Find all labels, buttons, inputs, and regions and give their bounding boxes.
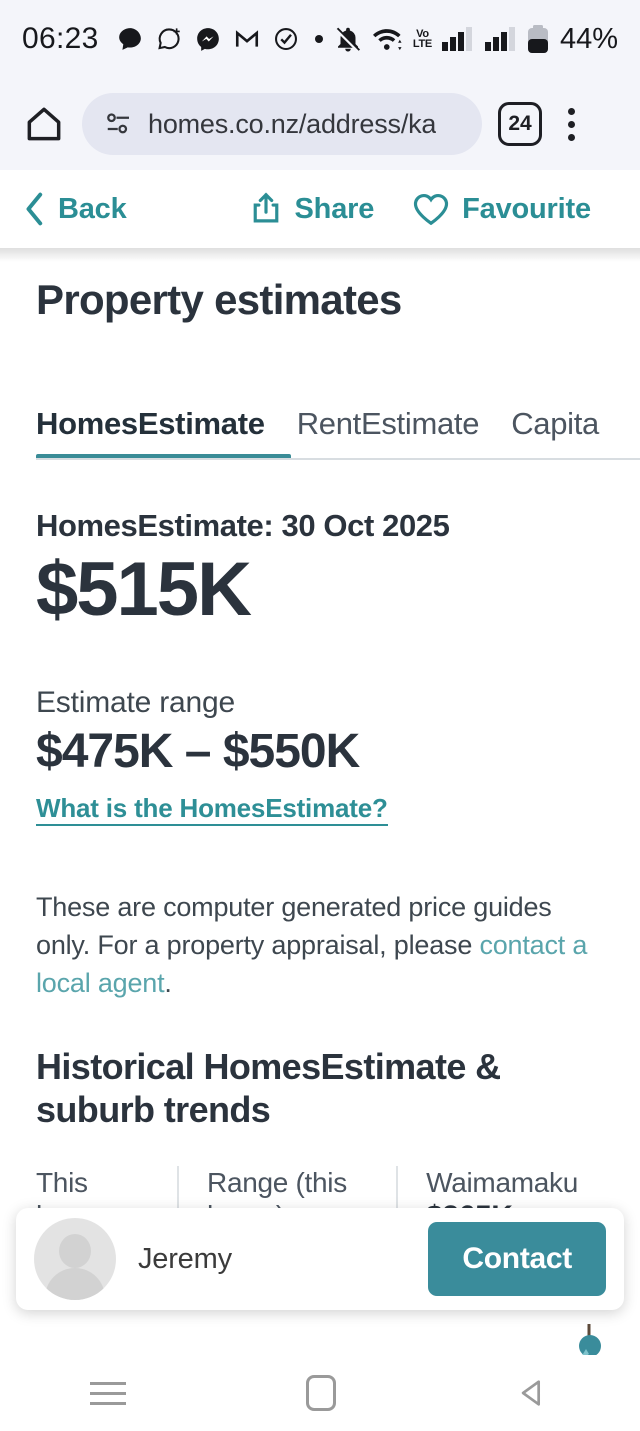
gmail-icon — [234, 26, 260, 52]
check-circle-icon — [273, 26, 299, 52]
chevron-left-icon — [24, 192, 46, 226]
android-nav-bar — [0, 1355, 640, 1431]
phone-screen: 06:23 VoLTE 44% homes.co.nz/address/ka — [0, 0, 640, 1431]
section-title-historical: Historical HomesEstimate & suburb trends — [36, 1045, 604, 1133]
estimate-heading: HomesEstimate: 30 Oct 2025 — [36, 508, 604, 544]
site-settings-icon[interactable] — [104, 109, 134, 139]
tabs-rule — [36, 458, 640, 460]
disclaimer-text: These are computer generated price guide… — [36, 888, 604, 1003]
kebab-menu-icon[interactable] — [558, 104, 585, 145]
page-action-bar: Back Share Favourite — [0, 170, 640, 248]
signal-sim2-icon — [484, 24, 518, 54]
wifi-icon — [372, 24, 404, 54]
tab-count-label: 24 — [508, 112, 531, 136]
battery-percentage: 44% — [560, 23, 618, 56]
home-square-icon[interactable] — [306, 1375, 336, 1411]
chat-bubble-icon — [117, 26, 143, 52]
favourite-label: Favourite — [462, 193, 591, 226]
bell-muted-icon — [333, 24, 363, 54]
favourite-button[interactable]: Favourite — [410, 190, 591, 228]
volte-icon: VoLTE — [413, 29, 432, 49]
disclaimer-part-2: . — [164, 968, 171, 998]
avatar-body — [45, 1268, 105, 1300]
back-button[interactable]: Back — [24, 192, 127, 226]
disclaimer-part-1: These are computer generated price guide… — [36, 892, 552, 960]
back-label: Back — [58, 193, 127, 226]
notification-icons — [117, 26, 326, 52]
whatsapp-add-icon — [156, 26, 182, 52]
tab-switcher-button[interactable]: 24 — [498, 102, 542, 146]
estimate-value: $515K — [36, 548, 604, 632]
avatar-head — [59, 1234, 91, 1268]
share-icon — [247, 190, 285, 228]
avatar-placeholder-icon — [34, 1218, 116, 1300]
header-shadow — [0, 248, 640, 262]
share-label: Share — [295, 193, 375, 226]
home-icon[interactable] — [22, 102, 66, 146]
estimate-range-value: $475K – $550K — [36, 724, 604, 779]
url-bar[interactable]: homes.co.nz/address/ka — [82, 93, 482, 155]
status-clock: 06:23 — [22, 22, 99, 56]
share-button[interactable]: Share — [247, 190, 375, 228]
url-text: homes.co.nz/address/ka — [148, 109, 436, 140]
agent-name: Jeremy — [138, 1243, 232, 1276]
signal-sim1-icon — [441, 24, 475, 54]
browser-toolbar: homes.co.nz/address/ka 24 — [0, 78, 640, 170]
status-right-icons: VoLTE 44% — [333, 23, 618, 56]
heart-icon — [410, 190, 452, 228]
recents-icon[interactable] — [90, 1375, 126, 1412]
stat-label: Waimamaku — [426, 1166, 578, 1199]
page-content: Property estimates HomesEstimate RentEst… — [0, 276, 640, 1304]
contact-button[interactable]: Contact — [428, 1222, 606, 1296]
back-triangle-icon[interactable] — [516, 1376, 550, 1410]
battery-icon — [527, 24, 549, 54]
what-is-homesestimate-link[interactable]: What is the HomesEstimate? — [36, 793, 388, 826]
tab-capitalvalue[interactable]: Capita — [511, 406, 599, 460]
agent-contact-card: Jeremy Contact — [16, 1208, 624, 1310]
status-bar: 06:23 VoLTE 44% — [0, 0, 640, 78]
estimate-range-label: Estimate range — [36, 686, 604, 720]
page-title: Property estimates — [36, 276, 604, 324]
estimate-tabs: HomesEstimate RentEstimate Capita — [36, 406, 604, 460]
dot-icon — [312, 32, 326, 46]
messenger-icon — [195, 26, 221, 52]
tab-rentestimate[interactable]: RentEstimate — [297, 406, 479, 460]
tab-homesestimate[interactable]: HomesEstimate — [36, 406, 265, 460]
